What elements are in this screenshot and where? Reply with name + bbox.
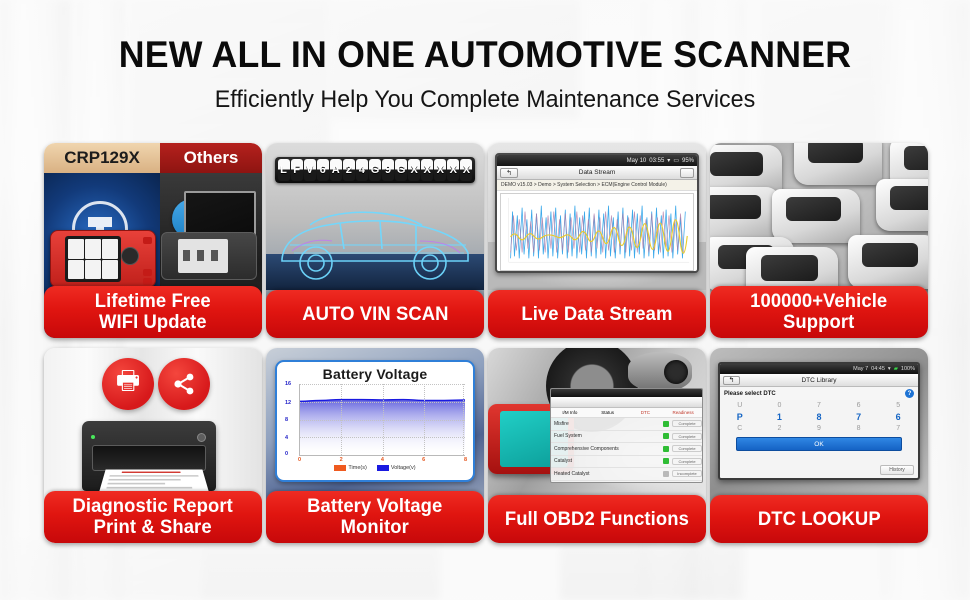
wheel-cell[interactable]: 5 — [878, 400, 918, 410]
obd2-row-label: Comprehensive Components — [554, 446, 660, 452]
tile-live-data-stream[interactable]: May 10 03:55 ▾ ▭ 95% ↰ Data Stream DEMO … — [488, 143, 706, 338]
obd2-row-status: Complete — [672, 420, 702, 427]
vin-char: G — [369, 159, 381, 181]
ok-button[interactable]: OK — [736, 437, 902, 451]
tile-caption-lifetime-free-wifi-update: Lifetime Free WIFI Update — [44, 286, 262, 338]
chart-title: Battery Voltage — [283, 366, 467, 382]
printer-icon: 🖶 — [102, 358, 154, 410]
feature-grid: CRP129X Others Lifetime Free WIFI Update — [44, 143, 928, 543]
vin-char: 9 — [382, 159, 394, 181]
dtc-status-bar: May 7 04:45 ▾ ▰ 100% — [720, 364, 918, 374]
obd2-row-label: Fuel System — [554, 433, 660, 439]
caption-line-2: WIFI Update — [95, 312, 211, 333]
status-battery: 100% — [901, 366, 915, 372]
status-ok-icon — [663, 458, 669, 464]
obd2-row: Misfire Complete — [551, 418, 702, 431]
obd2-back-button[interactable]: Back — [662, 483, 698, 484]
y-tick: 4 — [285, 435, 288, 441]
header: NEW ALL IN ONE AUTOMOTIVE SCANNER Effici… — [0, 34, 970, 114]
battery-icon: ▰ — [894, 366, 898, 372]
wheel-cell[interactable]: U — [720, 400, 760, 410]
obd2-row: Heated Catalyst Incomplete — [551, 468, 702, 481]
vin-char: G — [395, 159, 407, 181]
tablet-status-bar: May 10 03:55 ▾ ▭ 95% — [497, 155, 697, 166]
vin-char: V — [304, 159, 316, 181]
help-icon[interactable]: ? — [905, 389, 914, 398]
status-date: May 10 — [627, 158, 647, 164]
x-tick: 0 — [298, 457, 301, 463]
obd2-row: Comprehensive Components Complete — [551, 443, 702, 456]
exhaust-pipe-photo — [628, 352, 692, 392]
compare-label-others: Others — [160, 143, 262, 173]
x-tick: 8 — [464, 457, 467, 463]
history-button[interactable]: History — [880, 465, 914, 475]
tile-full-obd2-functions[interactable]: I/M Info Status DTC Readiness Misfire Co… — [488, 348, 706, 543]
tile-battery-voltage-monitor[interactable]: Battery Voltage 16 12 8 4 0 0 2 — [266, 348, 484, 543]
caption-line-1: Battery Voltage — [307, 496, 442, 517]
dtc-wheel-row-upper[interactable]: U 0 7 6 5 — [720, 400, 918, 410]
wheel-cell-selected[interactable]: 7 — [839, 410, 879, 423]
status-ok-icon — [663, 446, 669, 452]
share-icon — [158, 358, 210, 410]
obd2-row-status: Complete — [672, 445, 702, 452]
wifi-icon: ▾ — [888, 366, 891, 372]
back-icon[interactable]: ↰ — [500, 168, 518, 178]
legend-item: Voltage(v) — [391, 465, 416, 471]
wheel-cell[interactable]: 9 — [799, 423, 839, 433]
wheel-cell[interactable]: 7 — [799, 400, 839, 410]
caption-text: AUTO VIN SCAN — [302, 304, 448, 325]
obd2-row-status: Incomplete — [672, 470, 702, 477]
status-battery: 95% — [682, 158, 694, 164]
compare-label-crp129x: CRP129X — [44, 143, 160, 173]
dtc-title-bar: ↰ DTC Library — [720, 374, 918, 387]
obd2-tab[interactable]: Readiness — [664, 410, 702, 415]
tile-caption-dtc-lookup: DTC LOOKUP — [710, 495, 928, 543]
tile-caption-battery-voltage: Battery Voltage Monitor — [266, 491, 484, 543]
status-ok-icon — [663, 433, 669, 439]
dtc-device: May 7 04:45 ▾ ▰ 100% ↰ DTC Library Pleas… — [718, 362, 920, 480]
tile-caption-vehicle-support: 100000+Vehicle Support — [710, 286, 928, 338]
wheel-cell-selected[interactable]: P — [720, 410, 760, 423]
other-scanner-device — [161, 232, 257, 280]
legend-item: Time(s) — [348, 465, 366, 471]
caption-text: DTC LOOKUP — [758, 509, 881, 530]
status-pending-icon — [663, 471, 669, 477]
obd2-row: Fuel System Complete — [551, 431, 702, 444]
vin-char: X — [460, 159, 472, 181]
obd2-row: Catalyst Complete — [551, 456, 702, 469]
back-icon[interactable]: ↰ — [723, 376, 740, 385]
caption-line-2: Support — [750, 312, 887, 333]
obd2-tab[interactable]: DTC — [627, 410, 665, 415]
obd2-tab[interactable]: I/M Info — [551, 410, 589, 415]
tile-caption-auto-vin-scan: AUTO VIN SCAN — [266, 290, 484, 338]
obd2-row-status: Complete — [672, 433, 702, 440]
obd2-row-label: Catalyst — [554, 458, 660, 464]
wireframe-car-icon — [270, 195, 480, 287]
wheel-cell-selected[interactable]: 6 — [878, 410, 918, 423]
crp129x-device — [50, 230, 156, 288]
tile-caption-full-obd2: Full OBD2 Functions — [488, 495, 706, 543]
data-stream-plot — [500, 193, 694, 271]
caption-line-1: Diagnostic Report — [73, 496, 233, 517]
vin-char: L — [278, 159, 290, 181]
tile-auto-vin-scan[interactable]: L F V 6 A 2 4 G 9 G X X X X X AUTO VIN S… — [266, 143, 484, 338]
vin-char: X — [408, 159, 420, 181]
y-tick: 16 — [285, 381, 291, 387]
status-ok-icon — [663, 421, 669, 427]
tile-lifetime-free-wifi-update[interactable]: CRP129X Others Lifetime Free WIFI Update — [44, 143, 262, 338]
tile-caption-diagnostic-report: Diagnostic Report Print & Share — [44, 491, 262, 543]
vin-char: A — [330, 159, 342, 181]
screen-title: Data Stream — [579, 169, 616, 176]
obd2-readiness-panel: I/M Info Status DTC Readiness Misfire Co… — [550, 388, 703, 483]
print-icon[interactable] — [680, 168, 694, 178]
status-time: 04:45 — [871, 366, 885, 372]
obd2-row-label: Misfire — [554, 421, 660, 427]
obd2-tab[interactable]: Status — [589, 410, 627, 415]
breadcrumb: DEMO v15.03 > Demo > System Selection > … — [497, 180, 697, 191]
wheel-cell[interactable]: 6 — [839, 400, 879, 410]
wheel-cell[interactable]: 7 — [878, 423, 918, 433]
obd2-row-label: Heated Catalyst — [554, 471, 660, 477]
tile-vehicle-support[interactable]: 100000+Vehicle Support — [710, 143, 928, 338]
wheel-cell-selected[interactable]: 1 — [760, 410, 800, 423]
x-tick: 4 — [381, 457, 384, 463]
vin-char: 6 — [317, 159, 329, 181]
caption-line-2: Monitor — [307, 517, 442, 538]
prompt-text: Please select DTC — [724, 391, 776, 397]
tablet-device: May 10 03:55 ▾ ▭ 95% ↰ Data Stream DEMO … — [495, 153, 699, 273]
tablet-title-bar: ↰ Data Stream — [497, 166, 697, 180]
battery-icon: ▭ — [673, 157, 679, 164]
page-subtitle: Efficiently Help You Complete Maintenanc… — [15, 86, 956, 114]
tile-dtc-lookup[interactable]: May 7 04:45 ▾ ▰ 100% ↰ DTC Library Pleas… — [710, 348, 928, 543]
chart-plot-area: 16 12 8 4 0 0 2 4 6 8 — [299, 384, 465, 456]
caption-line-2: Print & Share — [73, 517, 233, 538]
wheel-cell[interactable]: 2 — [760, 423, 800, 433]
wheel-cell[interactable]: 8 — [839, 423, 879, 433]
vin-char: X — [421, 159, 433, 181]
chart-legend: Time(s) Voltage(v) — [283, 465, 467, 471]
tile-caption-live-data-stream: Live Data Stream — [488, 290, 706, 338]
vin-char: 4 — [356, 159, 368, 181]
obd2-tabs: I/M Info Status DTC Readiness — [551, 408, 702, 418]
status-date: May 7 — [853, 366, 868, 372]
dtc-wheel-row-lower[interactable]: C 2 9 8 7 — [720, 423, 918, 433]
obd2-row-status: Complete — [672, 458, 702, 465]
wifi-icon: ▾ — [667, 157, 670, 164]
status-time: 03:55 — [649, 158, 664, 164]
caption-text: Live Data Stream — [521, 304, 672, 325]
caption-line-1: 100000+Vehicle — [750, 291, 887, 312]
compare-header: CRP129X Others — [44, 143, 262, 173]
dtc-wheel-row-selected[interactable]: P 1 8 7 6 — [720, 410, 918, 423]
x-tick: 2 — [340, 457, 343, 463]
y-tick: 8 — [285, 417, 288, 423]
vin-char: X — [447, 159, 459, 181]
vin-digits: L F V 6 A 2 4 G 9 G X X X X X — [275, 157, 475, 183]
caption-line-1: Lifetime Free — [95, 291, 211, 312]
caption-text: Full OBD2 Functions — [505, 509, 689, 530]
vin-char: X — [434, 159, 446, 181]
y-tick: 12 — [285, 400, 291, 406]
vin-char: 2 — [343, 159, 355, 181]
x-tick: 6 — [422, 457, 425, 463]
dtc-prompt: Please select DTC ? — [720, 387, 918, 400]
wheel-cell-selected[interactable]: 8 — [799, 410, 839, 423]
vin-char: F — [291, 159, 303, 181]
tile-diagnostic-report-print-share[interactable]: 🖶 Diagnostic Report Print & Share — [44, 348, 262, 543]
page-title: NEW ALL IN ONE AUTOMOTIVE SCANNER — [17, 34, 953, 76]
wheel-cell[interactable]: 0 — [760, 400, 800, 410]
screen-title: DTC Library — [801, 377, 836, 384]
battery-voltage-chart: Battery Voltage 16 12 8 4 0 0 2 — [275, 360, 475, 482]
wheel-cell[interactable]: C — [720, 423, 760, 433]
y-tick: 0 — [285, 451, 288, 457]
